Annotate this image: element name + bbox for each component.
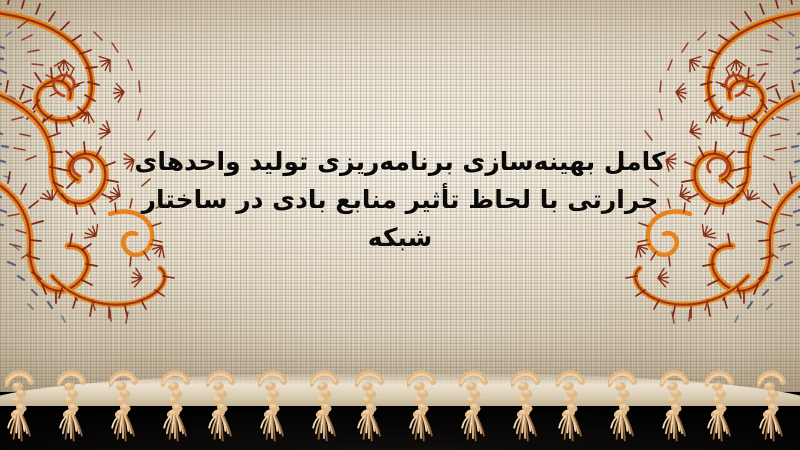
tassel [206,368,240,448]
title-line-2: حرارتی با لحاظ تأثیر منابع بادی در ساختا… [95,181,705,219]
tassel [660,368,694,448]
tassel [459,368,493,448]
tassel [310,368,344,448]
title-line-1: کامل بهینه‌سازی برنامه‌ریزی تولید واحدها… [95,143,705,181]
tassel-fringe [0,368,800,450]
tassel [355,368,389,448]
tassel [556,368,590,448]
tassel [511,368,545,448]
slide-title: کامل بهینه‌سازی برنامه‌ریزی تولید واحدها… [95,143,705,257]
tassel [608,368,642,448]
tassel [109,368,143,448]
tassel [407,368,441,448]
tassel [57,368,91,448]
tassel [161,368,195,448]
tassel [258,368,292,448]
slide-canvas: کامل بهینه‌سازی برنامه‌ریزی تولید واحدها… [0,0,800,450]
title-line-3: شبکه [95,219,705,257]
tassel [5,368,39,448]
tassel [705,368,739,448]
tassel [757,368,791,448]
